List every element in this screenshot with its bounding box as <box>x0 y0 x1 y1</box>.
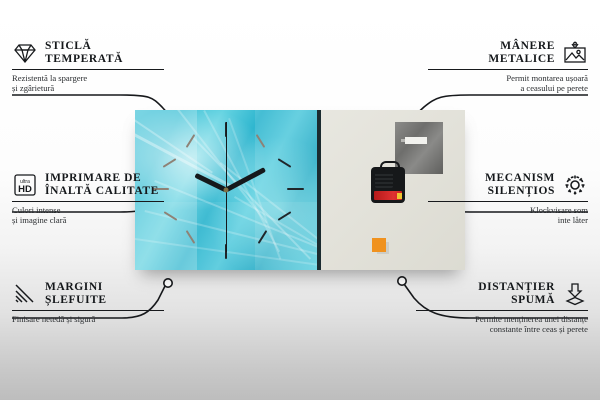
polished-edges-icon <box>12 282 38 306</box>
picture-hanger-icon <box>562 41 588 65</box>
gear-icon <box>562 173 588 197</box>
feature-manere-metalice: MÂNERE METALICE Permit montarea ușoară a… <box>428 40 588 94</box>
ultra-hd-icon: ultra HD <box>12 173 38 197</box>
feature-margini-slefuite: MARGINI ȘLEFUITE Finisare netedă și sigu… <box>12 281 164 324</box>
feature-title-line2: ȘLEFUITE <box>45 294 107 307</box>
feature-title-line1: MECANISM <box>485 172 555 185</box>
feature-title-line1: MARGINI <box>45 281 107 294</box>
feature-sub-line1: Rezistentă la spargere <box>12 73 164 84</box>
feature-rule <box>12 310 164 311</box>
feature-sub-line2: și imagine clară <box>12 215 164 226</box>
feature-distantier-spuma: DISTANȚIER SPUMĂ Permite menținerea unei… <box>416 281 588 335</box>
anchor-dot-distantier <box>398 277 406 285</box>
diamond-icon <box>12 41 38 65</box>
clock-hub <box>224 188 229 193</box>
anchor-dot-margini <box>164 279 172 287</box>
feature-sub-line2: și zgârietură <box>12 83 164 94</box>
feature-rule <box>428 69 588 70</box>
feature-sub-line1: Klockvisare som <box>428 205 588 216</box>
feature-sub-line1: Finisare netedă și sigură <box>12 314 164 325</box>
feature-rule <box>12 201 164 202</box>
feature-title-line1: DISTANȚIER <box>478 281 555 294</box>
feature-rule <box>428 201 588 202</box>
feature-sub-line2: a ceasului pe perete <box>428 83 588 94</box>
feature-title-line2: METALICE <box>488 53 555 66</box>
feature-imprimare-inalta-calitate: ultra HD IMPRIMARE DE ÎNALTĂ CALITATE Cu… <box>12 172 164 226</box>
feature-sub-line2: constante între ceas și perete <box>416 324 588 335</box>
svg-text:HD: HD <box>18 184 32 195</box>
feature-rule <box>416 310 588 311</box>
feature-title-line2: ÎNALTĂ CALITATE <box>45 185 159 198</box>
feature-title-line1: IMPRIMARE DE <box>45 172 159 185</box>
feature-sticla-temperata: STICLĂ TEMPERATĂ Rezistentă la spargere … <box>12 40 164 94</box>
feature-sub-line2: inte låter <box>428 215 588 226</box>
foam-spacer <box>372 238 386 252</box>
feature-sub-line1: Permite menținerea unei distanțe <box>416 314 588 325</box>
infographic-canvas: STICLĂ TEMPERATĂ Rezistentă la spargere … <box>0 0 600 400</box>
feature-title-line1: MÂNERE <box>488 40 555 53</box>
feature-rule <box>12 69 164 70</box>
clock-mechanism <box>371 167 405 203</box>
battery-plus-terminal <box>397 193 402 199</box>
product-photo <box>135 110 465 270</box>
feature-sub-line1: Permit montarea ușoară <box>428 73 588 84</box>
feature-title-line2: TEMPERATĂ <box>45 53 123 66</box>
feature-sub-line1: Culori intense <box>12 205 164 216</box>
feature-title-line2: SILENȚIOS <box>485 185 555 198</box>
feature-title-line2: SPUMĂ <box>478 294 555 307</box>
foam-spacer-icon <box>562 282 588 306</box>
feature-mecanism-silentios: MECANISM SILENȚIOS Klockvisare som inte … <box>428 172 588 226</box>
feature-title-line1: STICLĂ <box>45 40 123 53</box>
